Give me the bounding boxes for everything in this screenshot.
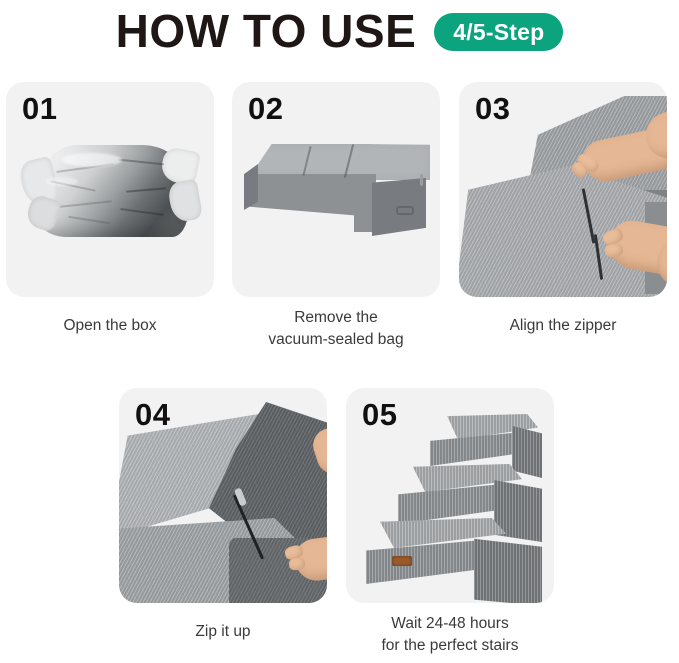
step-number-02: 02 [248,90,283,127]
step-caption-05-line2: for the perfect stairs [335,635,565,657]
step-caption-03: Align the zipper [448,315,678,337]
header: HOW TO USE 4/5-Step [0,0,679,62]
folded-foam-block-illustration [244,144,430,244]
step-card-04: 04 [119,388,327,603]
how-to-use-infographic: HOW TO USE 4/5-Step 01 [0,0,679,663]
step-card-01: 01 [6,82,214,297]
step-number-04: 04 [135,396,170,433]
step-number-05: 05 [362,396,397,433]
step-caption-05: Wait 24-48 hours for the perfect stairs [335,613,565,658]
step-card-05: 05 [346,388,554,603]
step-number-01: 01 [22,90,57,127]
step-card-02: 02 [232,82,440,297]
foam-pet-stairs-illustration [364,414,542,586]
step-card-03: 03 [459,82,667,297]
step-caption-02: Remove the vacuum-sealed bag [221,307,451,352]
page-title: HOW TO USE [116,8,417,54]
step-caption-02-line2: vacuum-sealed bag [221,329,451,351]
step-caption-05-line1: Wait 24-48 hours [335,613,565,635]
step-count-badge: 4/5-Step [434,13,563,51]
vacuum-sealed-bag-illustration [22,137,202,247]
step-caption-02-line1: Remove the [221,307,451,329]
brand-tag [392,556,412,566]
step-caption-01: Open the box [0,315,225,337]
step-number-03: 03 [475,90,510,127]
step-caption-04: Zip it up [108,621,338,643]
